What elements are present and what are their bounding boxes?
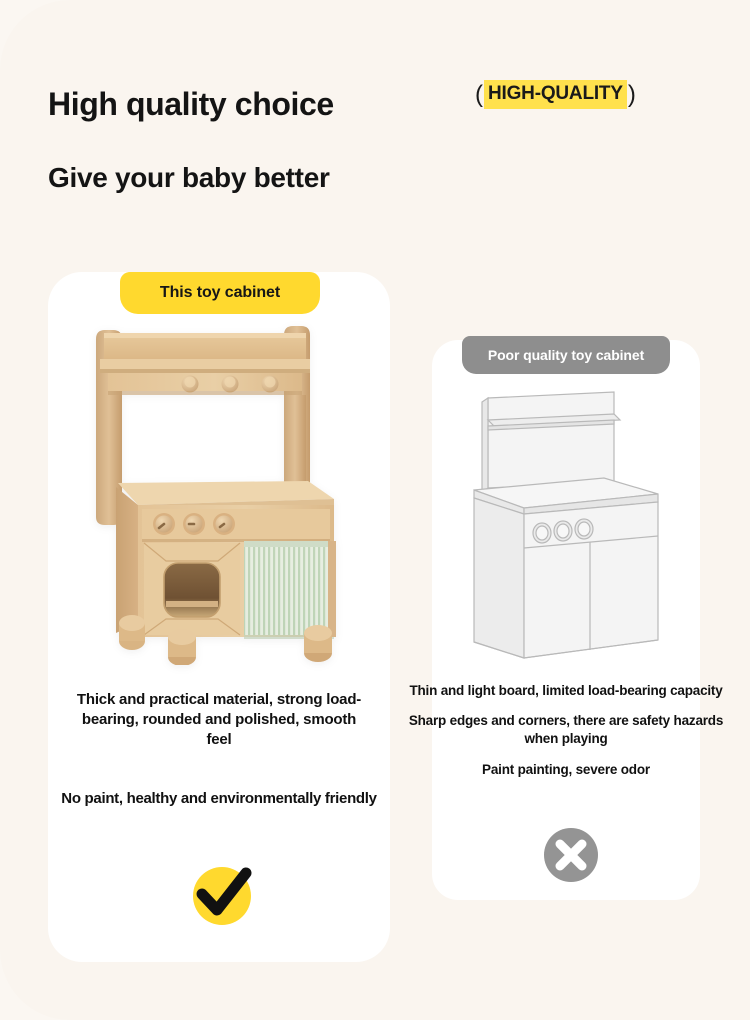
bad-drawback-2: Sharp edges and corners, there are safet… (406, 712, 726, 748)
good-product-feature-extra: No paint, healthy and environmentally fr… (52, 790, 386, 807)
good-cabinet-illustration (78, 325, 358, 665)
high-quality-badge: ( HIGH-QUALITY ) (474, 80, 637, 109)
bad-product-tab: Poor quality toy cabinet (462, 336, 670, 374)
page-root: High quality choice Give your baby bette… (0, 0, 750, 1020)
bad-product-drawbacks: Thin and light board, limited load-beari… (406, 682, 726, 779)
bad-drawback-3: Paint painting, severe odor (406, 761, 726, 779)
bad-drawback-1: Thin and light board, limited load-beari… (406, 682, 726, 700)
good-product-features: Thick and practical material, strong loa… (70, 690, 368, 750)
good-product-tab-label: This toy cabinet (160, 284, 280, 302)
bad-cabinet-illustration (462, 390, 682, 665)
cross-mark-icon (540, 824, 602, 886)
badge-close-paren: ) (627, 83, 637, 107)
page-title-line-2: Give your baby better (48, 162, 330, 194)
badge-label: HIGH-QUALITY (484, 80, 627, 109)
page-title-line-1: High quality choice (48, 86, 334, 123)
badge-open-paren: ( (474, 83, 484, 107)
bad-product-tab-label: Poor quality toy cabinet (488, 347, 644, 363)
check-mark-icon (186, 856, 258, 928)
good-product-tab: This toy cabinet (120, 272, 320, 314)
